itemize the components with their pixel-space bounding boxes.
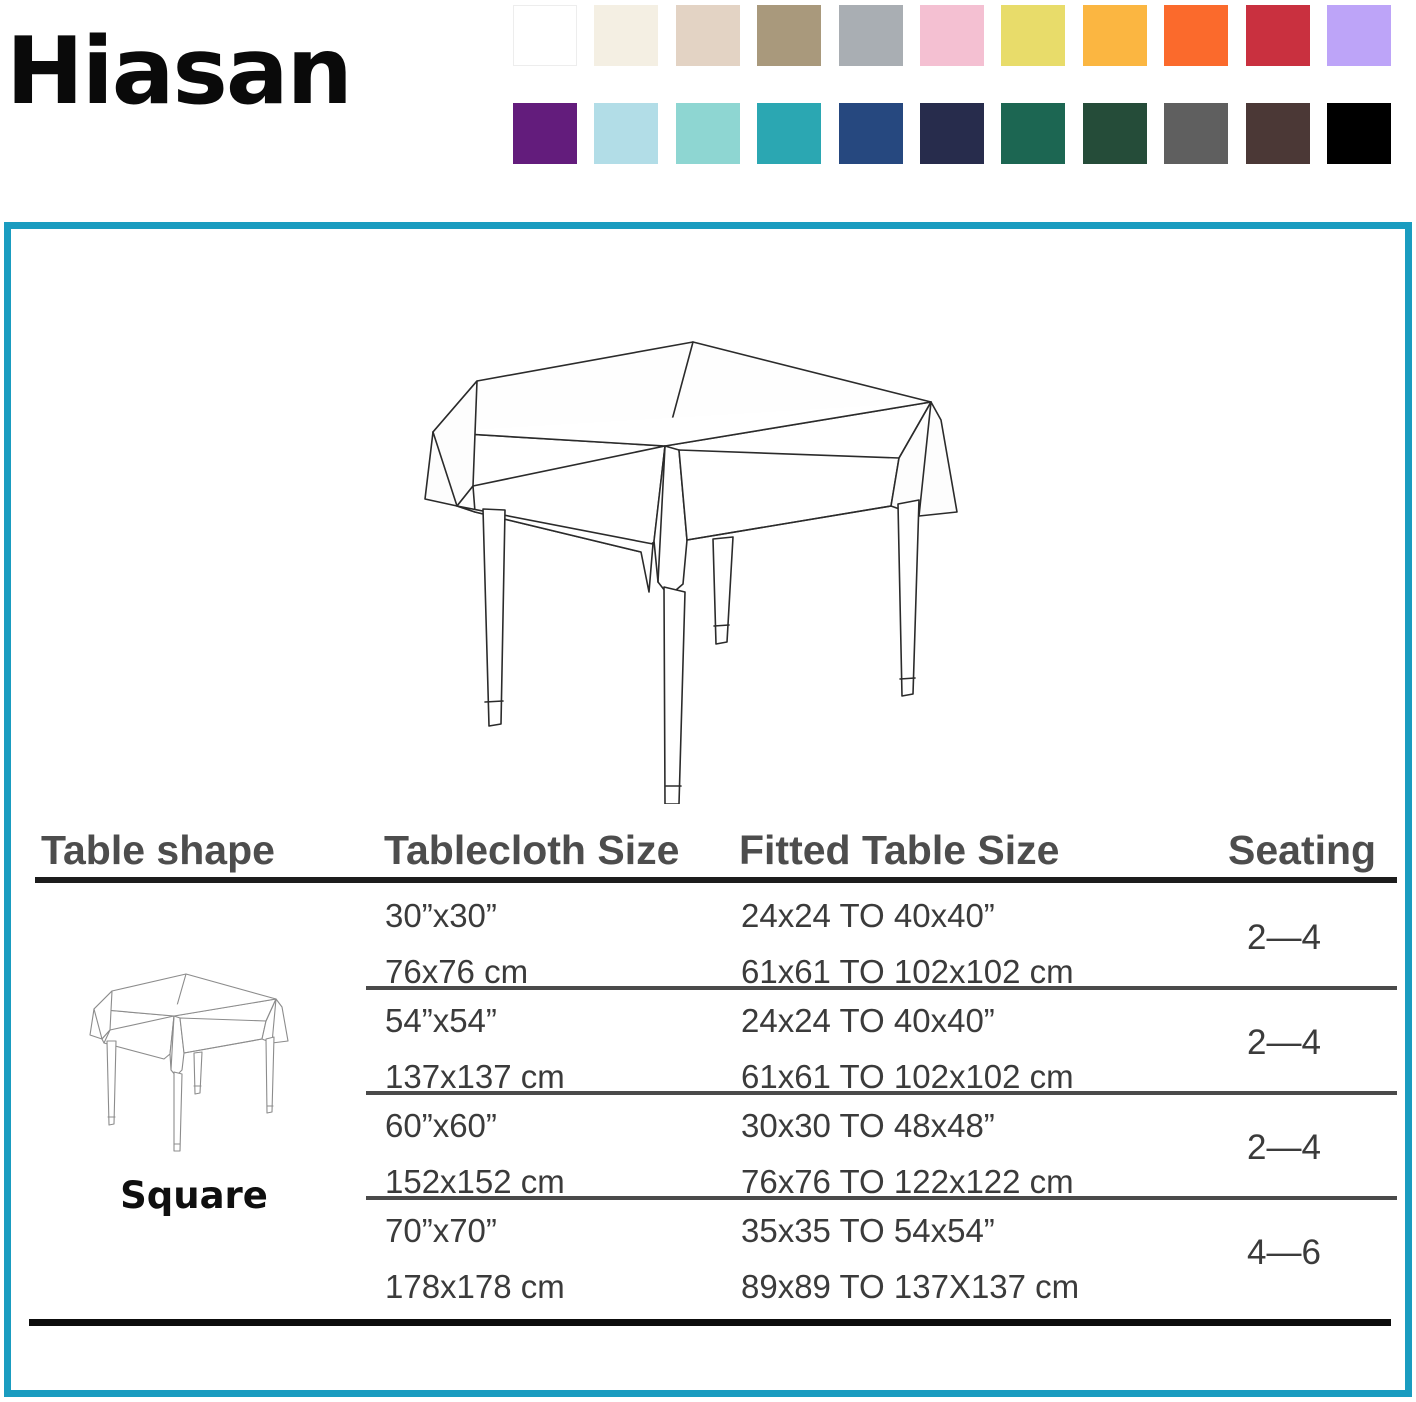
header-divider [35, 877, 1397, 883]
swatch-midnight[interactable] [920, 103, 984, 164]
cloth-size-inches: 30”x30” [385, 899, 528, 932]
swatch-lavender[interactable] [1327, 5, 1391, 66]
swatch-black[interactable] [1327, 103, 1391, 164]
cell-tablecloth-size: 30”x30” 76x76 cm [385, 899, 528, 988]
cell-tablecloth-size: 60”x60” 152x152 cm [385, 1109, 565, 1198]
cell-seating: 2—4 [1247, 885, 1321, 990]
table-bottom-divider [29, 1319, 1391, 1326]
cell-fitted-table-size: 35x35 TO 54x54” 89x89 TO 137X137 cm [741, 1214, 1079, 1303]
swatch-teal[interactable] [757, 103, 821, 164]
swatch-ivory[interactable] [594, 5, 658, 66]
table-row: 54”x54” 137x137 cm 24x24 TO 40x40” 61x61… [29, 990, 1399, 1095]
fitted-size-cm: 61x61 TO 102x102 cm [741, 955, 1074, 988]
cell-seating: 2—4 [1247, 990, 1321, 1095]
cloth-size-cm: 137x137 cm [385, 1060, 565, 1093]
swatch-yellow[interactable] [1001, 5, 1065, 66]
swatch-beige[interactable] [676, 5, 740, 66]
cloth-size-inches: 60”x60” [385, 1109, 565, 1142]
swatch-navy-blue[interactable] [839, 103, 903, 164]
table-header-row: Table shape Tablecloth Size Fitted Table… [29, 809, 1399, 871]
cloth-size-inches: 70”x70” [385, 1214, 565, 1247]
fitted-size-cm: 76x76 TO 122x122 cm [741, 1165, 1074, 1198]
cell-seating: 2—4 [1247, 1095, 1321, 1200]
fitted-size-inches: 24x24 TO 40x40” [741, 1004, 1074, 1037]
swatch-pink[interactable] [920, 5, 984, 66]
cell-fitted-table-size: 30x30 TO 48x48” 76x76 TO 122x122 cm [741, 1109, 1074, 1198]
column-header-seating: Seating [1228, 830, 1376, 871]
swatch-brown[interactable] [1246, 103, 1310, 164]
table-row: 70”x70” 178x178 cm 35x35 TO 54x54” 89x89… [29, 1200, 1399, 1305]
header-band: Hiasan [0, 0, 1416, 200]
swatch-gray[interactable] [839, 5, 903, 66]
square-table-with-tablecloth-icon [421, 334, 991, 804]
size-guide-panel: Table shape Tablecloth Size Fitted Table… [4, 222, 1412, 1397]
swatch-aqua[interactable] [676, 103, 740, 164]
swatch-marigold[interactable] [1083, 5, 1147, 66]
cell-tablecloth-size: 70”x70” 178x178 cm [385, 1214, 565, 1303]
fitted-size-inches: 24x24 TO 40x40” [741, 899, 1074, 932]
swatch-row-2 [513, 103, 1411, 164]
fitted-size-cm: 61x61 TO 102x102 cm [741, 1060, 1074, 1093]
cloth-size-inches: 54”x54” [385, 1004, 565, 1037]
table-row: 30”x30” 76x76 cm 24x24 TO 40x40” 61x61 T… [29, 885, 1399, 990]
column-header-tablecloth-size: Tablecloth Size [384, 830, 679, 871]
swatch-emerald[interactable] [1001, 103, 1065, 164]
brand-logo: Hiasan [6, 6, 476, 136]
fitted-size-inches: 30x30 TO 48x48” [741, 1109, 1074, 1142]
cloth-size-cm: 152x152 cm [385, 1165, 565, 1198]
color-swatch-palette [513, 5, 1411, 165]
fitted-size-cm: 89x89 TO 137X137 cm [741, 1270, 1079, 1303]
swatch-red[interactable] [1246, 5, 1310, 66]
brand-wordmark-text: Hiasan [6, 25, 351, 118]
swatch-orange[interactable] [1164, 5, 1228, 66]
column-header-table-shape: Table shape [41, 830, 275, 871]
swatch-white[interactable] [513, 5, 577, 66]
size-comparison-table: Table shape Tablecloth Size Fitted Table… [29, 809, 1399, 1339]
cloth-size-cm: 76x76 cm [385, 955, 528, 988]
fitted-size-inches: 35x35 TO 54x54” [741, 1214, 1079, 1247]
table-row: 60”x60” 152x152 cm 30x30 TO 48x48” 76x76… [29, 1095, 1399, 1200]
cell-fitted-table-size: 24x24 TO 40x40” 61x61 TO 102x102 cm [741, 899, 1074, 988]
swatch-purple[interactable] [513, 103, 577, 164]
cell-fitted-table-size: 24x24 TO 40x40” 61x61 TO 102x102 cm [741, 1004, 1074, 1093]
swatch-row-1 [513, 5, 1411, 66]
swatch-light-blue[interactable] [594, 103, 658, 164]
column-header-fitted-table-size: Fitted Table Size [739, 830, 1059, 871]
cell-seating: 4—6 [1247, 1200, 1321, 1305]
table-body: 30”x30” 76x76 cm 24x24 TO 40x40” 61x61 T… [29, 885, 1399, 1305]
swatch-charcoal[interactable] [1164, 103, 1228, 164]
swatch-taupe[interactable] [757, 5, 821, 66]
cloth-size-cm: 178x178 cm [385, 1270, 565, 1303]
swatch-hunter-green[interactable] [1083, 103, 1147, 164]
cell-tablecloth-size: 54”x54” 137x137 cm [385, 1004, 565, 1093]
